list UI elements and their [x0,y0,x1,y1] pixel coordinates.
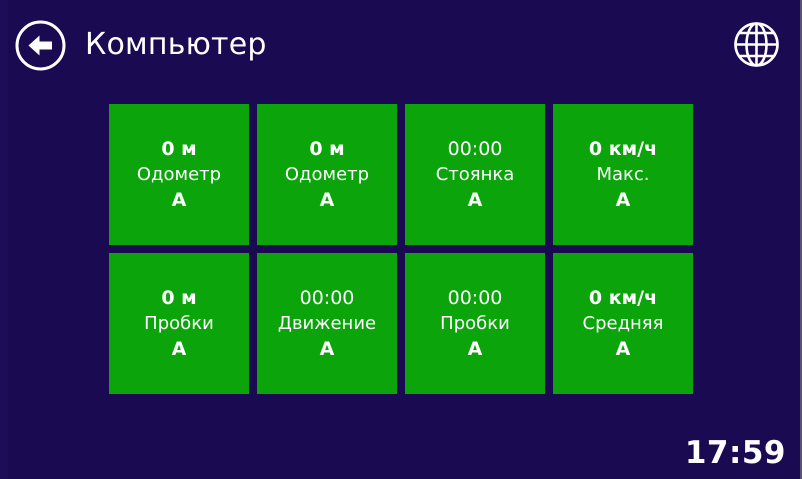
trip-computer-tile-grid: 0 м Одометр A 0 м Одометр A 00:00 Стоянк… [109,104,693,394]
tile-value: 0 м [161,136,196,162]
tile-max-speed-a[interactable]: 0 км/ч Макс. A [553,104,693,245]
tile-value: 0 м [309,136,344,162]
back-button[interactable] [14,19,67,72]
tile-value: 0 км/ч [589,136,657,162]
tile-label: Одометр [137,162,221,187]
tile-parking-time-a[interactable]: 00:00 Стоянка A [405,104,545,245]
tile-profile: A [320,336,335,362]
tile-value: 00:00 [448,285,503,311]
tile-odometer-a-1[interactable]: 0 м Одометр A [109,104,249,245]
tile-profile: A [172,336,187,362]
tile-traffic-distance-a[interactable]: 0 м Пробки A [109,253,249,394]
tile-label: Одометр [285,162,369,187]
back-arrow-icon [14,19,67,72]
tile-label: Пробки [440,311,510,336]
tile-odometer-a-2[interactable]: 0 м Одометр A [257,104,397,245]
tile-profile: A [320,187,335,213]
tile-value: 0 м [161,285,196,311]
tile-average-speed-a[interactable]: 0 км/ч Средняя A [553,253,693,394]
page-title: Компьютер [85,21,267,69]
trip-computer-screen: Компьютер 0 м Одометр A [0,0,802,479]
tile-label: Средняя [583,311,664,336]
tile-label: Макс. [596,162,649,187]
globe-button[interactable] [729,17,784,72]
tile-label: Пробки [144,311,214,336]
tile-traffic-time-a[interactable]: 00:00 Пробки A [405,253,545,394]
tile-value: 00:00 [448,136,503,162]
tile-value: 0 км/ч [589,285,657,311]
tile-label: Движение [278,311,376,336]
header-bar: Компьютер [0,0,802,90]
status-clock: 17:59 [685,435,786,471]
tile-label: Стоянка [436,162,515,187]
tile-moving-time-a[interactable]: 00:00 Движение A [257,253,397,394]
tile-value: 00:00 [300,285,355,311]
tile-profile: A [616,336,631,362]
tile-profile: A [172,187,187,213]
globe-icon [729,17,784,72]
tile-profile: A [468,187,483,213]
tile-profile: A [468,336,483,362]
tile-profile: A [616,187,631,213]
